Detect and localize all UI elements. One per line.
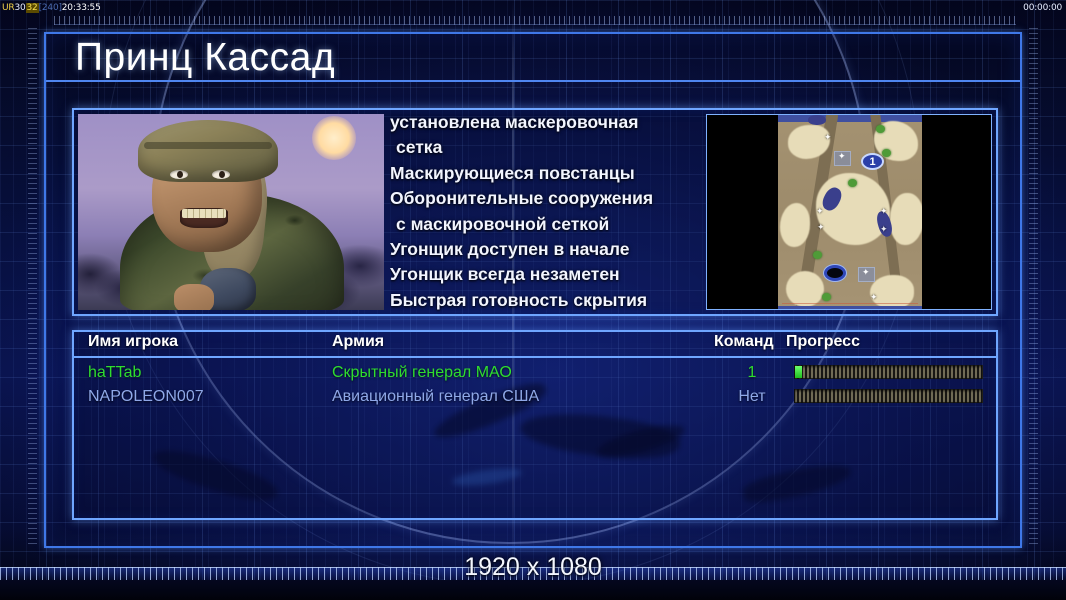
minimap-tree (822, 293, 831, 301)
column-header-team: Команд (714, 333, 774, 351)
page-title: Принц Кассад (75, 35, 335, 81)
minimap-structure (834, 151, 851, 166)
description-line: сетка (390, 135, 700, 160)
minimap-tree (876, 125, 885, 133)
status-bracket: [240] (39, 3, 62, 13)
description-line: Быстрая готовность скрытия (390, 288, 700, 313)
description-line: Оборонительные сооружения (390, 186, 700, 211)
minimap-sand (890, 193, 922, 245)
column-header-name: Имя игрока (88, 333, 178, 351)
description-line: Маскирующиеся повстанцы (390, 161, 700, 186)
ruler-right (1029, 28, 1038, 548)
status-fps: 30 (14, 3, 25, 13)
description-line: установлена маскеровочная (390, 110, 700, 135)
minimap-star: ✦ (880, 225, 888, 234)
status-bar-left: UR3032[240]20:33:55 (2, 0, 101, 16)
minimap-sand (786, 271, 824, 307)
sun-icon (312, 116, 356, 160)
status-bar: UR3032[240]20:33:55 00:00:00 (0, 0, 1066, 16)
status-timer: 00:00:00 (1023, 0, 1062, 16)
player-army[interactable]: Скрытный генерал МАО (332, 360, 512, 385)
minimap-start-marker-empty[interactable] (824, 265, 846, 281)
main-frame: Принц Кассад установлена маскер (44, 32, 1022, 548)
player-list-header: Имя игрока Армия Команд Прогресс (74, 332, 996, 358)
minimap-tree (813, 251, 822, 259)
table-row[interactable]: NAPOLEON007 Авиационный генерал США Нет (74, 384, 996, 409)
general-info-panel: установлена маскеровочная сетка Маскирую… (72, 108, 998, 316)
player-list-panel: Имя игрока Армия Команд Прогресс haTTab … (72, 330, 998, 520)
description-line: Угонщик доступен в начале (390, 237, 700, 262)
minimap-sand (780, 203, 810, 247)
ruler-left (28, 28, 37, 548)
general-portrait (78, 114, 384, 310)
status-clock: 20:33:55 (62, 3, 101, 13)
minimap-start-marker[interactable]: 1 (861, 153, 884, 170)
minimap[interactable]: ✦ ✦ ✦ ✦ ✦ ✦ 1 (706, 114, 992, 310)
title-bar: Принц Кассад (46, 34, 1020, 82)
portrait-headwrap (138, 120, 278, 182)
bottom-bar (0, 580, 1066, 600)
minimap-star: ✦ (817, 223, 825, 232)
minimap-water (778, 115, 922, 122)
minimap-star: ✦ (824, 133, 832, 142)
table-row[interactable]: haTTab Скрытный генерал МАО 1 (74, 360, 996, 385)
portrait-hand (174, 284, 214, 310)
minimap-star: ✦ (870, 293, 878, 302)
general-description: установлена маскеровочная сетка Маскирую… (390, 110, 700, 314)
game-screen: UR3032[240]20:33:55 00:00:00 Принц Касса… (0, 0, 1066, 600)
player-name: haTTab (88, 360, 141, 385)
minimap-star: ✦ (816, 207, 824, 216)
player-progress-bar (794, 389, 983, 403)
portrait-eye-right (212, 170, 230, 179)
minimap-lake (808, 115, 826, 125)
column-header-progress: Прогресс (786, 333, 860, 351)
minimap-boundary (782, 303, 918, 304)
status-prefix: UR (2, 3, 14, 13)
player-progress-fill (795, 366, 802, 378)
minimap-terrain: ✦ ✦ ✦ ✦ ✦ ✦ 1 (778, 115, 922, 310)
description-line: от СВМ (390, 313, 700, 314)
player-name: NAPOLEON007 (88, 384, 204, 409)
description-line: Угонщик всегда незаметен (390, 262, 700, 287)
minimap-tree (882, 149, 891, 157)
portrait-teeth (182, 209, 226, 218)
minimap-structure (858, 267, 875, 282)
column-header-army: Армия (332, 333, 384, 351)
player-progress-bar (794, 365, 983, 379)
minimap-tree (848, 179, 857, 187)
minimap-star: ✦ (880, 207, 888, 216)
status-fps-alt: 32 (26, 3, 39, 13)
description-line: с маскировочной сеткой (390, 212, 700, 237)
ruler-top (54, 16, 1016, 25)
minimap-water (778, 306, 922, 310)
portrait-eye-left (170, 170, 188, 179)
resolution-label: 1920 x 1080 (0, 553, 1066, 582)
player-army[interactable]: Авиационный генерал США (332, 384, 539, 409)
